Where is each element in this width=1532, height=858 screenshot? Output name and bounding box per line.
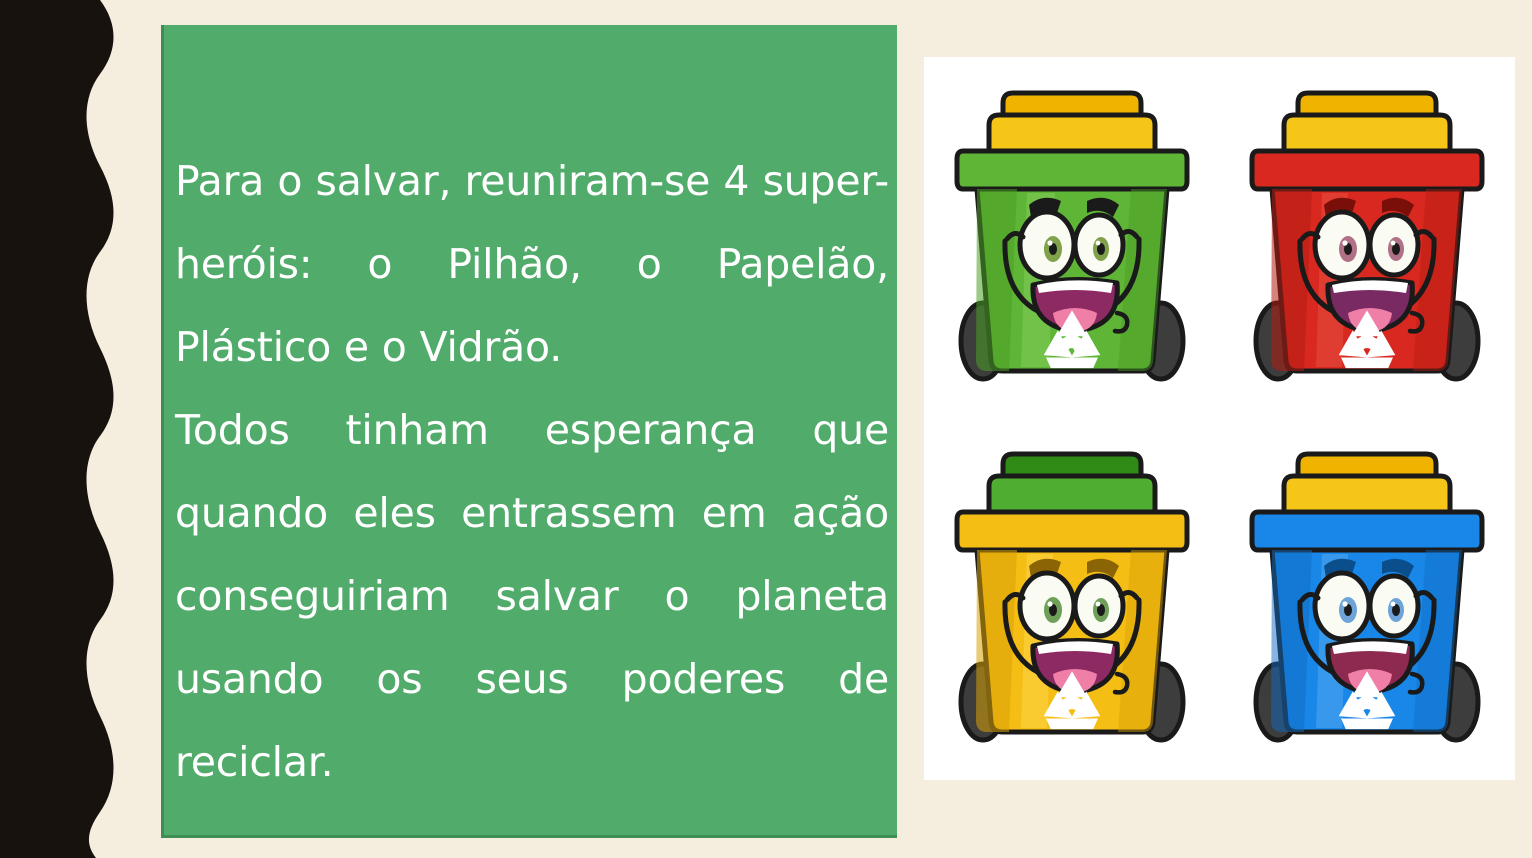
bin-cell-blue <box>1220 419 1516 781</box>
slide-canvas: Para o salvar, reuniram-se 4 super-herói… <box>0 0 1532 858</box>
story-paragraph-2: Todos tinham esperança que quando eles e… <box>175 389 889 804</box>
wave-shape-icon <box>0 0 130 858</box>
red-recycling-bin <box>1236 73 1498 403</box>
blue-recycling-bin <box>1236 434 1498 764</box>
yellow-recycling-bin <box>941 434 1203 764</box>
bin-cell-green <box>924 57 1220 419</box>
story-paragraph-1: Para o salvar, reuniram-se 4 super-herói… <box>175 140 889 389</box>
story-text-block: Para o salvar, reuniram-se 4 super-herói… <box>175 140 889 804</box>
bin-grid <box>924 57 1515 780</box>
recycling-bins-image-panel <box>924 57 1515 780</box>
green-text-panel: Para o salvar, reuniram-se 4 super-herói… <box>161 25 897 838</box>
bin-cell-red <box>1220 57 1516 419</box>
wavy-black-band-decoration <box>0 0 130 858</box>
bin-cell-yellow <box>924 419 1220 781</box>
green-recycling-bin <box>941 73 1203 403</box>
